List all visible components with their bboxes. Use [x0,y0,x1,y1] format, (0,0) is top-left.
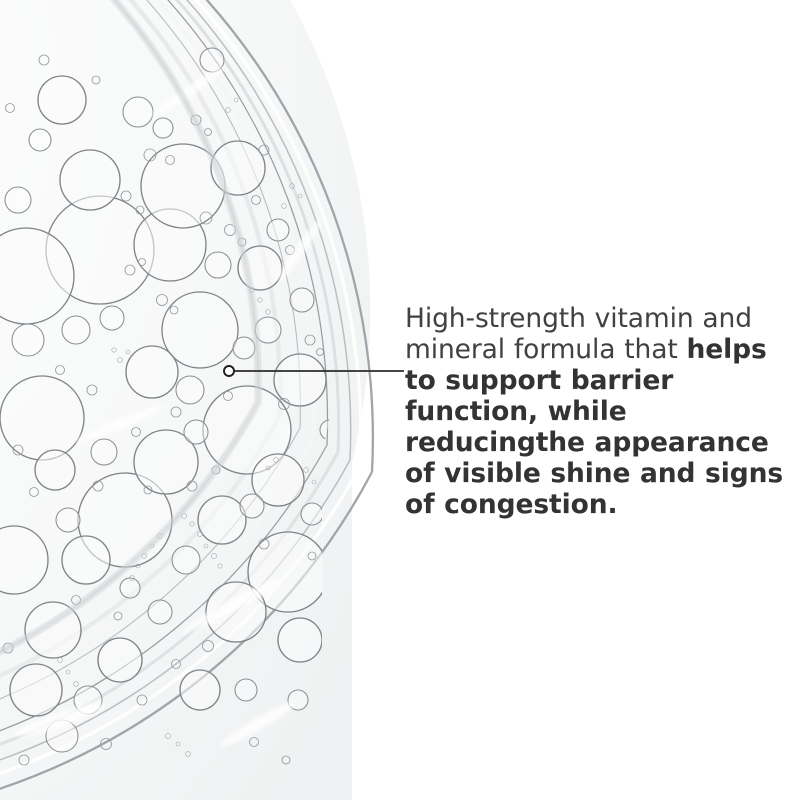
screenshot-canvas: High-strength vitamin and mineral formul… [0,0,800,800]
gel-dish-illustration [0,0,420,800]
product-photo [0,0,420,800]
annotation-text: High-strength vitamin and mineral formul… [405,303,795,520]
